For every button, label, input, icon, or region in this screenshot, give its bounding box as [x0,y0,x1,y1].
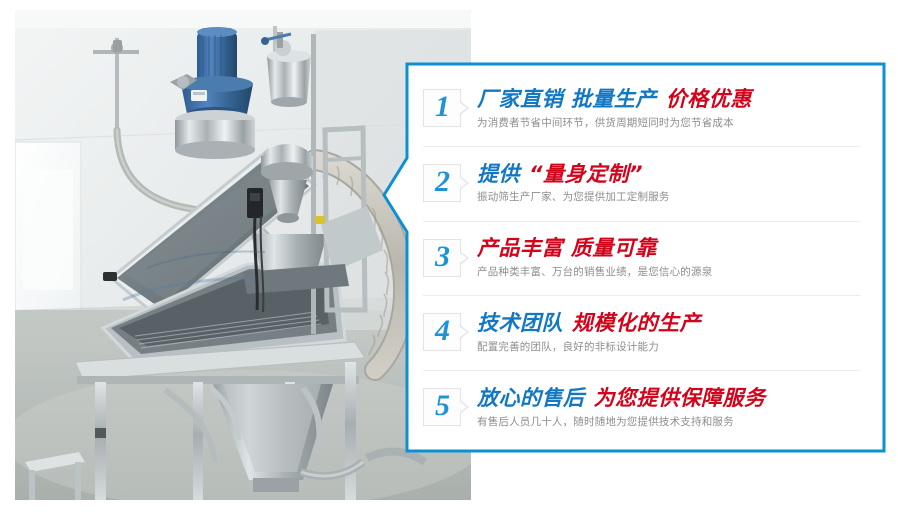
feature-subtitle: 配置完善的团队，良好的非标设计能力 [477,341,870,354]
feature-number-badge: 5 [423,388,461,426]
feature-text: 提供“量身定制” 振动筛生产厂家、为您提供加工定制服务 [477,162,870,204]
feature-number-badge: 1 [423,89,461,127]
badge-arrow-icon [460,101,469,115]
feature-number: 5 [435,391,449,421]
feature-row[interactable]: 5 放心的售后为您提供保障服务 有售后人员几十人，随时随地为您提供技术支持和服务 [419,371,870,443]
feature-row[interactable]: 2 提供“量身定制” 振动筛生产厂家、为您提供加工定制服务 [419,147,870,219]
badge-arrow-icon [460,325,469,339]
feature-row[interactable]: 1 厂家直销 批量生产价格优惠 为消费者节省中间环节，供货周期短同时为您节省成本 [419,72,870,144]
feature-title: 放心的售后为您提供保障服务 [477,386,870,411]
feature-subtitle: 有售后人员几十人，随时随地为您提供技术支持和服务 [477,416,870,429]
feature-row[interactable]: 3 产品丰富 质量可靠 产品种类丰富、万台的销售业绩，是您信心的源泉 [419,222,870,294]
features-panel: 1 厂家直销 批量生产价格优惠 为消费者节省中间环节，供货周期短同时为您节省成本… [381,62,886,453]
feature-title: 厂家直销 批量生产价格优惠 [477,87,870,112]
feature-text: 产品丰富 质量可靠 产品种类丰富、万台的销售业绩，是您信心的源泉 [477,236,870,278]
badge-arrow-icon [460,251,469,265]
feature-subtitle: 振动筛生产厂家、为您提供加工定制服务 [477,191,870,204]
feature-text: 厂家直销 批量生产价格优惠 为消费者节省中间环节，供货周期短同时为您节省成本 [477,87,870,129]
feature-number-badge: 3 [423,239,461,277]
feature-title-blue: 放心的售后 [477,386,585,410]
feature-title: 产品丰富 质量可靠 [477,236,870,261]
feature-number: 4 [435,316,449,346]
feature-title-red: 规模化的生产 [572,311,701,335]
feature-number-badge: 2 [423,164,461,202]
feature-number: 1 [435,92,449,122]
feature-title: 技术团队规模化的生产 [477,311,870,336]
feature-title-red: “量身定制” [529,162,643,186]
feature-subtitle: 为消费者节省中间环节，供货周期短同时为您节省成本 [477,117,870,130]
feature-title-red: 为您提供保障服务 [594,386,766,410]
feature-number: 2 [435,167,449,197]
feature-title-red: 产品丰富 质量可靠 [477,236,657,260]
feature-title-blue: 提供 [477,162,520,186]
feature-row[interactable]: 4 技术团队规模化的生产 配置完善的团队，良好的非标设计能力 [419,296,870,368]
feature-number-badge: 4 [423,313,461,351]
feature-title: 提供“量身定制” [477,162,870,187]
badge-arrow-icon [460,176,469,190]
feature-title-red: 价格优惠 [666,87,752,111]
feature-title-blue: 厂家直销 批量生产 [477,87,657,111]
badge-arrow-icon [460,400,469,414]
feature-title-blue: 技术团队 [477,311,563,335]
feature-number: 3 [435,242,449,272]
feature-subtitle: 产品种类丰富、万台的销售业绩，是您信心的源泉 [477,266,870,279]
feature-text: 放心的售后为您提供保障服务 有售后人员几十人，随时随地为您提供技术支持和服务 [477,386,870,428]
features-list: 1 厂家直销 批量生产价格优惠 为消费者节省中间环节，供货周期短同时为您节省成本… [405,62,884,453]
feature-text: 技术团队规模化的生产 配置完善的团队，良好的非标设计能力 [477,311,870,353]
